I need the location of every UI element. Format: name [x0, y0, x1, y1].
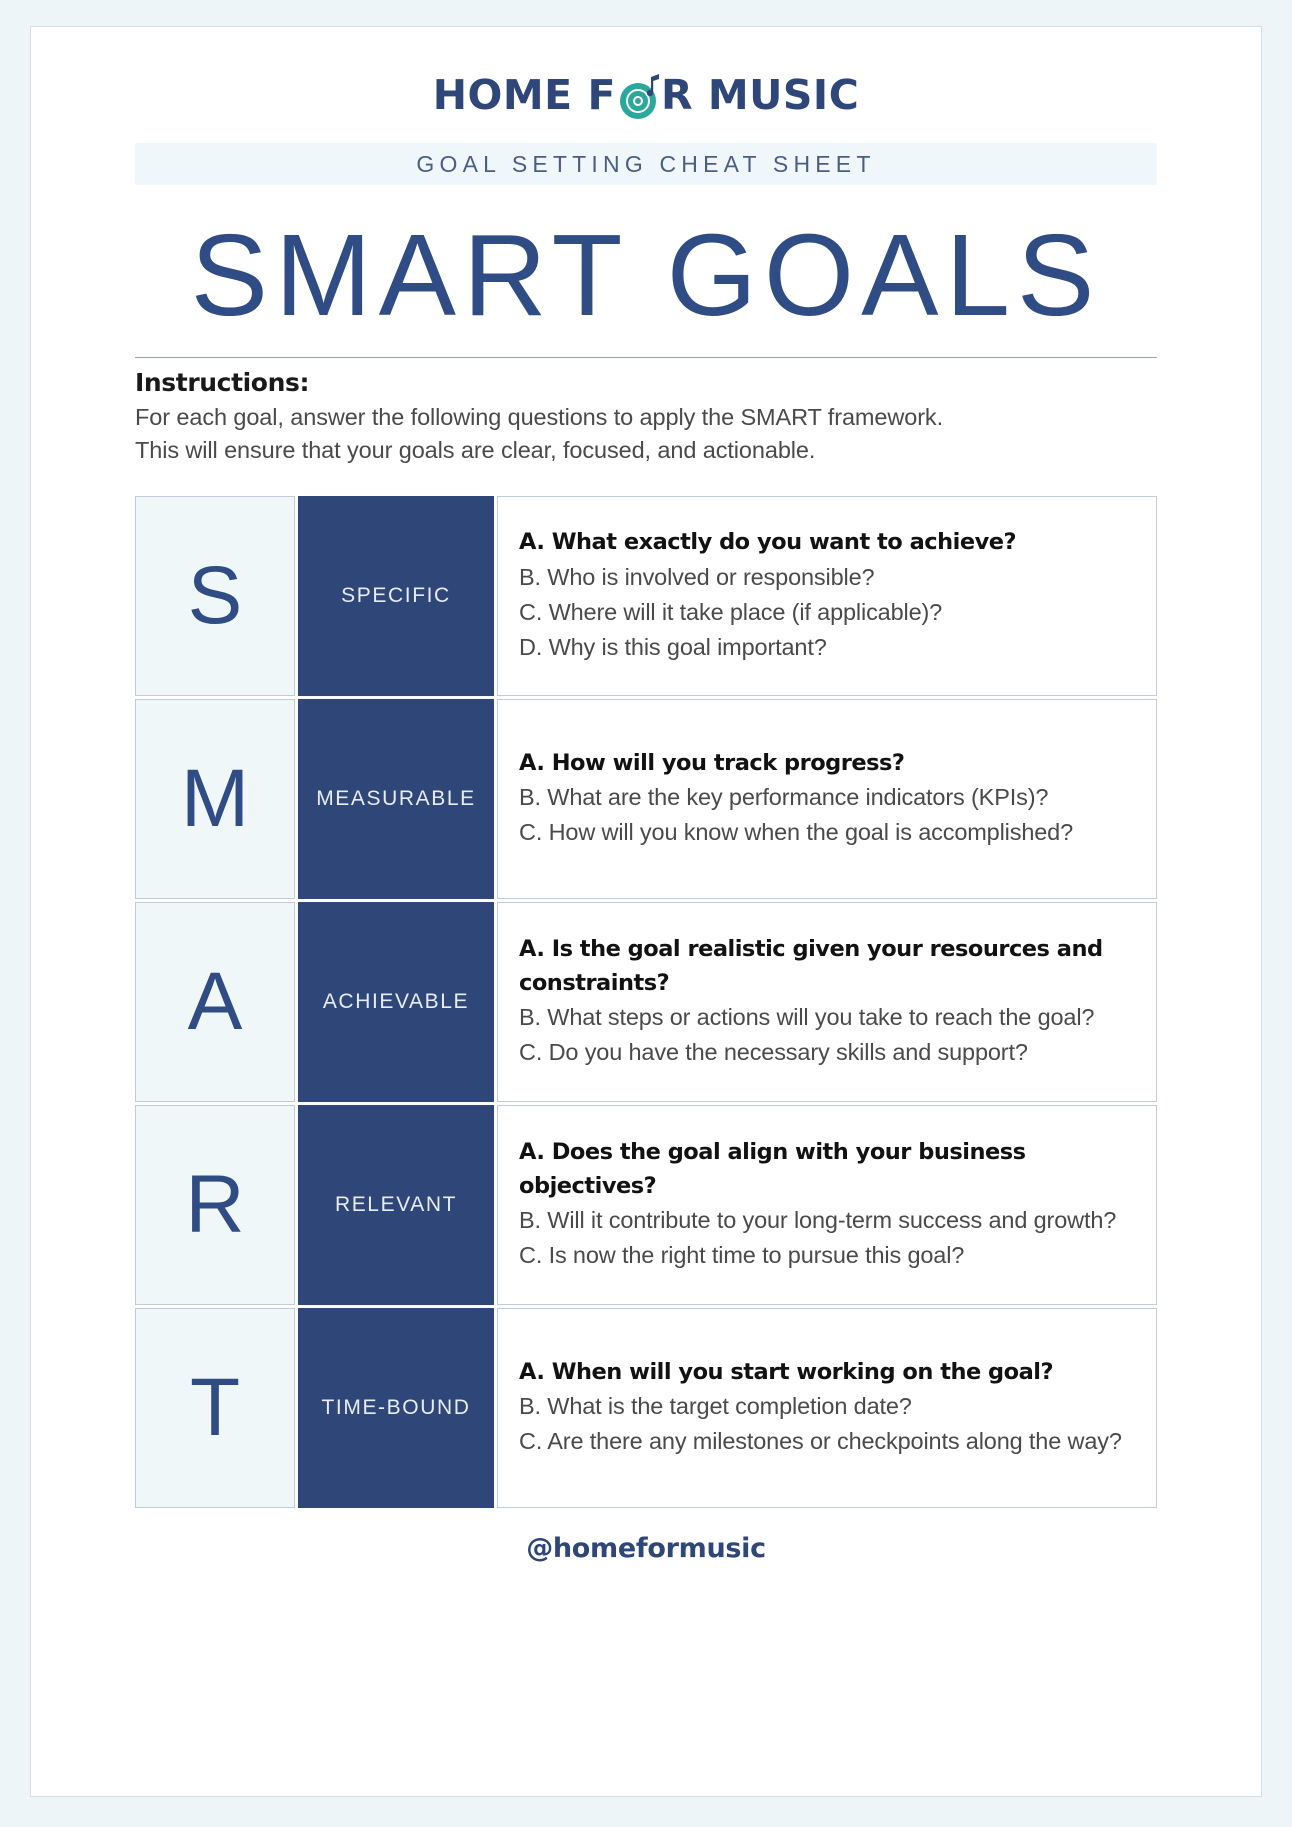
question-item: C. How will you know when the goal is ac…	[519, 815, 1136, 850]
letter-cell-t: T	[135, 1308, 295, 1508]
question-item: B. What are the key performance indicato…	[519, 780, 1136, 815]
question-item: A. Does the goal align with your busines…	[519, 1136, 1136, 1204]
question-item: C. Do you have the necessary skills and …	[519, 1035, 1136, 1070]
letter-cell-a: A	[135, 902, 295, 1102]
table-row: S SPECIFIC A. What exactly do you want t…	[135, 496, 1157, 696]
label-cell-time-bound: TIME-BOUND	[298, 1308, 494, 1508]
table-row: M MEASURABLE A. How will you track progr…	[135, 699, 1157, 899]
music-note-icon	[642, 73, 662, 99]
cheat-sheet-card: HOME F R MUSIC GOAL SETTING CHEAT SHEET …	[30, 26, 1262, 1797]
questions-cell-achievable: A. Is the goal realistic given your reso…	[497, 902, 1157, 1102]
letter-cell-r: R	[135, 1105, 295, 1305]
questions-cell-measurable: A. How will you track progress? B. What …	[497, 699, 1157, 899]
logo-text-left: HOME F	[433, 75, 616, 116]
page-background: HOME F R MUSIC GOAL SETTING CHEAT SHEET …	[0, 0, 1292, 1827]
question-item: A. When will you start working on the go…	[519, 1356, 1136, 1390]
brand-logo: HOME F R MUSIC	[135, 63, 1157, 127]
letter-cell-m: M	[135, 699, 295, 899]
subtitle-banner: GOAL SETTING CHEAT SHEET	[135, 143, 1157, 185]
question-item: B. Will it contribute to your long-term …	[519, 1203, 1136, 1238]
letter-cell-s: S	[135, 496, 295, 696]
question-item: B. Who is involved or responsible?	[519, 560, 1136, 595]
subtitle-banner-text: GOAL SETTING CHEAT SHEET	[416, 151, 875, 178]
instructions-line-2: This will ensure that your goals are cle…	[135, 434, 1157, 467]
smart-table: S SPECIFIC A. What exactly do you want t…	[135, 496, 1157, 1511]
label-cell-measurable: MEASURABLE	[298, 699, 494, 899]
question-item: B. What is the target completion date?	[519, 1389, 1136, 1424]
question-item: A. Is the goal realistic given your reso…	[519, 933, 1136, 1001]
page-title: SMART GOALS	[135, 215, 1157, 337]
table-row: A ACHIEVABLE A. Is the goal realistic gi…	[135, 902, 1157, 1102]
table-row: R RELEVANT A. Does the goal align with y…	[135, 1105, 1157, 1305]
instructions-heading: Instructions:	[135, 368, 1157, 397]
footer: @homeformusic	[135, 1533, 1157, 1572]
instructions-block: Instructions: For each goal, answer the …	[135, 358, 1157, 468]
question-item: A. How will you track progress?	[519, 747, 1136, 781]
question-item: C. Are there any milestones or checkpoin…	[519, 1424, 1136, 1459]
question-item: D. Why is this goal important?	[519, 630, 1136, 665]
label-cell-relevant: RELEVANT	[298, 1105, 494, 1305]
questions-cell-relevant: A. Does the goal align with your busines…	[497, 1105, 1157, 1305]
record-spindle-hole	[637, 100, 639, 102]
question-item: C. Is now the right time to pursue this …	[519, 1238, 1136, 1273]
label-cell-achievable: ACHIEVABLE	[298, 902, 494, 1102]
question-item: A. What exactly do you want to achieve?	[519, 526, 1136, 560]
vinyl-record-icon	[618, 77, 660, 119]
logo-text-right: R MUSIC	[661, 75, 859, 116]
label-cell-specific: SPECIFIC	[298, 496, 494, 696]
questions-cell-specific: A. What exactly do you want to achieve? …	[497, 496, 1157, 696]
social-handle[interactable]: @homeformusic	[526, 1533, 766, 1564]
instructions-line-1: For each goal, answer the following ques…	[135, 401, 1157, 434]
table-row: T TIME-BOUND A. When will you start work…	[135, 1308, 1157, 1508]
question-item: B. What steps or actions will you take t…	[519, 1000, 1136, 1035]
question-item: C. Where will it take place (if applicab…	[519, 595, 1136, 630]
questions-cell-time-bound: A. When will you start working on the go…	[497, 1308, 1157, 1508]
